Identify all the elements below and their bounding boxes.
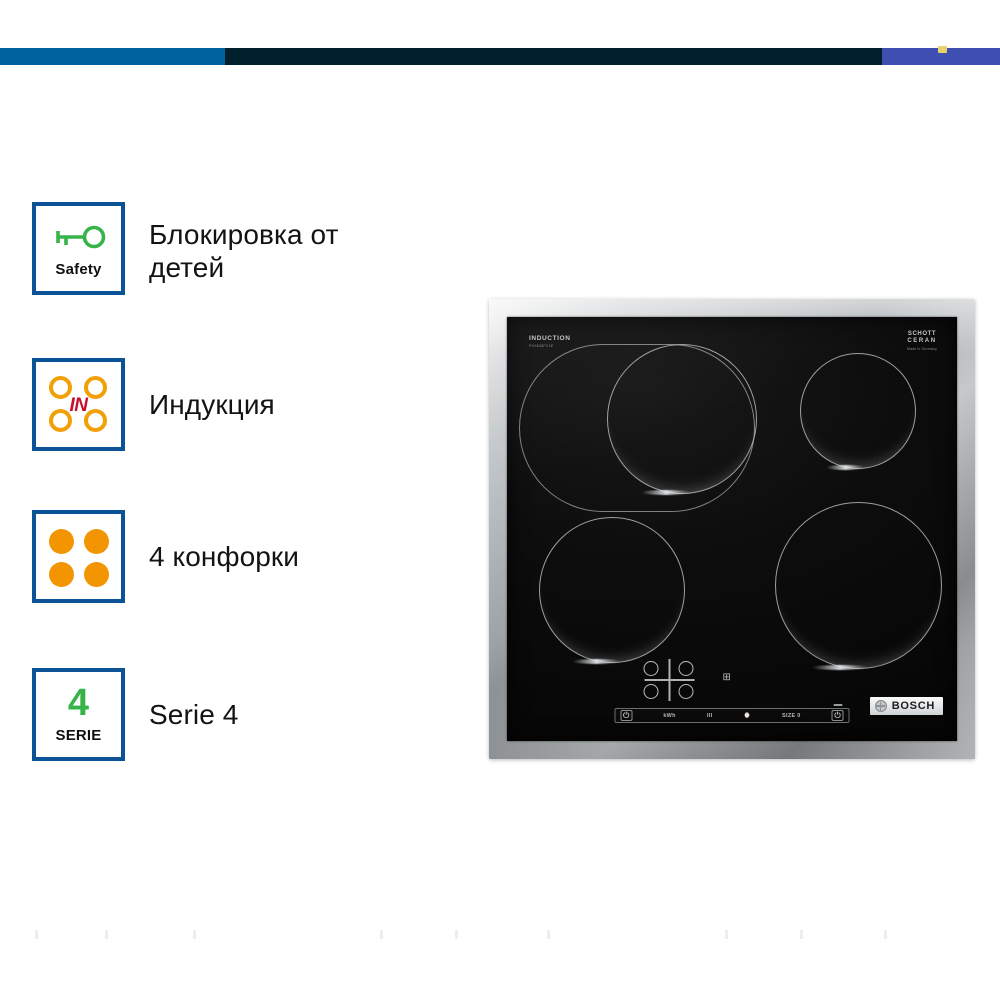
induction-badge-model: PXX645FC1E [529,344,571,348]
burner-dot-top-right [84,529,109,554]
induction-badge-title: INDUCTION [529,335,571,342]
ceran-badge-line2: CERAN [907,338,937,345]
feature-label-burner-count: 4 конфорки [149,510,299,573]
feature-icon-box: 4 SERIE [32,668,125,761]
topbar-accent-mark [938,46,947,53]
bosch-brand-plate: BOSCH [870,697,943,715]
zone-glint [641,490,691,495]
power-slider-bar[interactable]: ⏻ kWh III ⌚ SIZE 0 ⏻ [615,708,850,723]
hob-glass-surface: INDUCTION PXX645FC1E SCHOTT CERAN Made i… [507,317,957,741]
footer-tick [547,930,550,939]
slider-end-icon[interactable]: ⏻ [832,710,844,721]
burner-dot-top-left [49,529,74,554]
feature-list: Safety Блокировка от детей IN Индукция [0,0,470,1000]
zone-select-front-right[interactable] [679,684,694,699]
product-image-induction-hob: INDUCTION PXX645FC1E SCHOTT CERAN Made i… [489,299,975,759]
serie-number: 4 [36,684,121,722]
induction-in-caption: IN [36,395,121,417]
induction-badge: INDUCTION PXX645FC1E [529,335,571,349]
feature-label-induction: Индукция [149,358,275,421]
power-button-icon[interactable]: ⏻ [621,710,633,721]
slider-label-kwh[interactable]: kWh [663,713,676,719]
feature-item-serie: 4 SERIE Serie 4 [32,668,238,761]
safety-icon-caption: Safety [36,261,121,278]
zone-select-front-left[interactable] [644,684,659,699]
topbar-segment-indigo [882,48,1000,65]
slider-label-level[interactable]: III [707,713,712,719]
cooking-zone-front-left-lower [539,517,685,663]
footer-tick-row [0,930,1000,946]
induction-rings-icon: IN [36,362,121,447]
footer-tick [193,930,196,939]
child-lock-icon[interactable]: ⊞ [723,672,730,683]
cooking-zone-front-right [775,502,942,669]
feature-label-serie: Serie 4 [149,668,238,731]
cooking-zone-rear-right [800,353,916,469]
zone-glint [572,659,621,664]
footer-tick [884,930,887,939]
feature-icon-box: IN [32,358,125,451]
zone-selector-grid[interactable] [641,659,703,701]
burner-dot-bottom-left [49,562,74,587]
bosch-emblem-icon [875,700,887,712]
zone-glint [826,465,865,470]
feature-item-child-lock: Safety Блокировка от детей [32,202,339,295]
zone-grid-divider-horizontal [645,679,695,681]
footer-tick [380,930,383,939]
zone-select-rear-right[interactable] [679,661,694,676]
feature-icon-box [32,510,125,603]
slider-indicator-tick [834,704,843,706]
feature-label-child-lock: Блокировка от детей [149,202,339,284]
footer-tick [800,930,803,939]
bosch-wordmark: BOSCH [892,700,935,712]
schott-ceran-badge: SCHOTT CERAN Made in Germany [907,331,937,352]
cooking-zone-front-left [607,344,757,494]
zone-select-rear-left[interactable] [644,661,659,676]
footer-tick [105,930,108,939]
ceran-badge-line1: SCHOTT [908,331,936,337]
safety-key-icon [36,218,121,256]
slider-label-size[interactable]: SIZE 0 [782,713,801,719]
feature-item-burner-count: 4 конфорки [32,510,299,603]
footer-tick [455,930,458,939]
ceran-badge-sub: Made in Germany [907,348,937,352]
timer-icon[interactable]: ⌚ [744,713,751,719]
serie-icon-caption: SERIE [36,727,121,744]
four-burners-icon [36,514,121,599]
feature-item-induction: IN Индукция [32,358,275,451]
burner-dot-bottom-right [84,562,109,587]
footer-tick [35,930,38,939]
hob-control-panel[interactable]: ⊞ ⏻ kWh III ⌚ SIZE 0 ⏻ [615,659,850,727]
footer-tick [725,930,728,939]
feature-icon-box: Safety [32,202,125,295]
